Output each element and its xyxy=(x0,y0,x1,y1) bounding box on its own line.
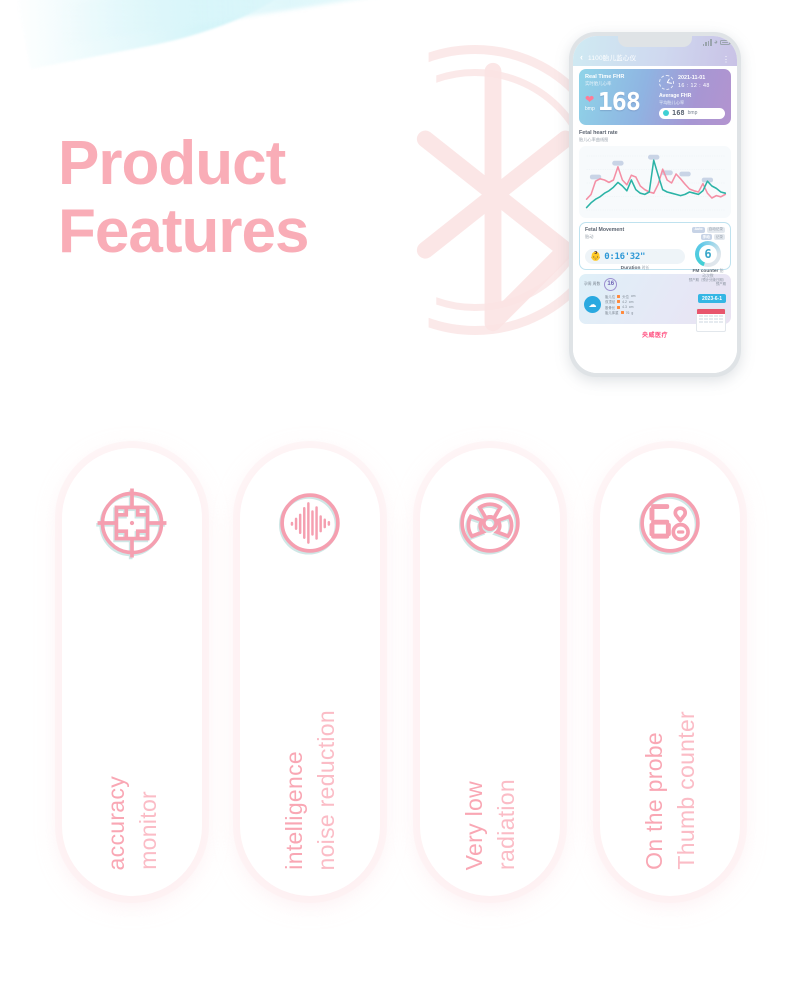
feature-label-secondary: noise reduction xyxy=(313,710,339,871)
back-button[interactable]: ‹ xyxy=(580,53,583,62)
feature-label-secondary: Thumb counter xyxy=(673,711,699,870)
chip-manual[interactable]: 手动 xyxy=(701,234,712,240)
pregnancy-info-card: 孕周 周数 16 ☁ 胎儿位头位cm双顶径4.2cm股骨长4.3cm胎儿体重76… xyxy=(579,274,731,324)
phone-mockup: ◕ ‹ 1100胎儿监心仪 ⋮ Real Time FHR 实时胎儿心率 ❤ xyxy=(569,32,741,377)
phone-notch xyxy=(618,36,692,47)
fhr-unit: bmp xyxy=(585,106,595,112)
feature-card-intelligence-noise-reduction[interactable]: intelligence noise reduction xyxy=(240,448,380,896)
week-badge: 16 xyxy=(604,278,617,291)
feature-card-accuracy-monitor[interactable]: accuracy monitor xyxy=(62,448,202,896)
overflow-menu-icon[interactable]: ⋮ xyxy=(722,57,730,62)
feature-label-secondary: monitor xyxy=(135,791,161,870)
cloud-icon: ☁ xyxy=(584,296,601,313)
product-features-page: Product Features ◕ ‹ 1100胎儿监心仪 ⋮ Real Ti… xyxy=(0,0,800,987)
feature-label-secondary: radiation xyxy=(493,779,519,870)
fhr-date: 2021-11-01 xyxy=(678,74,710,82)
fm-counter-ring: 6 xyxy=(695,241,721,267)
fhr-value: 168 xyxy=(598,89,640,114)
wifi-icon: ◕ xyxy=(714,39,718,46)
chip-auto-cn: 自动记录 xyxy=(707,227,725,233)
feature-card-thumb-counter[interactable]: On the probe Thumb counter xyxy=(600,448,740,896)
duration-value: 0:16'32" xyxy=(604,252,645,262)
measurement-rows: 胎儿位头位cm双顶径4.2cm股骨长4.3cm胎儿体重76g xyxy=(605,294,635,316)
duration-label-cn: 时长 xyxy=(642,266,650,270)
average-indicator-dot xyxy=(663,110,669,116)
app-body: Real Time FHR 实时胎儿心率 ❤ bmp 168 xyxy=(573,66,737,373)
fetal-movement-label-en: Fetal Movement xyxy=(585,227,624,234)
duration-pill: 👶 0:16'32" xyxy=(585,249,685,264)
bullet-icon xyxy=(617,300,620,303)
average-fhr-value: 168 xyxy=(672,109,685,117)
baby-icon: 👶 xyxy=(590,252,601,261)
average-fhr-label-en: Average FHR xyxy=(659,93,725,100)
average-fhr-label-cn: 平均胎儿心率 xyxy=(659,100,725,106)
fhr-time: 16 : 12 : 48 xyxy=(678,82,710,90)
fetal-movement-label-cn: 胎动 xyxy=(585,234,624,240)
real-time-fhr-card: Real Time FHR 实时胎儿心率 ❤ bmp 168 xyxy=(579,69,731,125)
signal-icon xyxy=(703,39,712,46)
due-date-sub-cn: 预产期 xyxy=(654,282,726,287)
average-fhr-pill: 168 bmp xyxy=(659,108,725,119)
list-item: 双顶径4.2cm xyxy=(605,299,635,304)
feature-label-primary: Very low xyxy=(461,781,487,870)
feature-label-primary: On the probe xyxy=(641,732,667,870)
fhr-label-en: Real Time FHR xyxy=(585,74,655,81)
heart-icon: ❤ xyxy=(585,95,595,106)
app-title: 1100胎儿监心仪 xyxy=(588,52,717,62)
battery-icon xyxy=(720,40,730,45)
page-title-line2: Features xyxy=(58,198,308,266)
bullet-icon xyxy=(621,311,624,314)
page-title: Product Features xyxy=(58,130,308,266)
fm-counter-value: 6 xyxy=(704,247,711,261)
crosshair-target-icon xyxy=(91,482,173,564)
duration-label-en: Duration xyxy=(621,266,641,271)
fetal-heart-rate-chart xyxy=(579,146,731,218)
list-item: 胎儿位头位cm xyxy=(605,294,635,299)
chart-title-cn: 胎儿心率曲线图 xyxy=(579,137,731,143)
bullet-icon xyxy=(617,295,620,298)
bullet-icon xyxy=(617,306,620,309)
fetal-movement-card: Fetal Movement 胎动 Auto 自动记录 手动 记录 xyxy=(579,222,731,270)
page-title-line1: Product xyxy=(58,130,308,198)
sound-wave-icon xyxy=(269,482,351,564)
week-label-cn: 孕周 周数 xyxy=(584,282,600,287)
chip-auto[interactable]: Auto xyxy=(692,227,704,233)
due-date-value: 2023-6-1 xyxy=(698,294,726,303)
clock-icon xyxy=(659,75,674,90)
list-item: 股骨长4.3cm xyxy=(605,305,635,310)
list-item: 胎儿体重76g xyxy=(605,310,635,315)
feature-card-very-low-radiation[interactable]: Very low radiation xyxy=(420,448,560,896)
feature-label-primary: accuracy xyxy=(103,776,129,870)
digital-counter-heart-icon xyxy=(629,482,711,564)
average-fhr-unit: bmp xyxy=(688,110,698,116)
radiation-icon xyxy=(449,482,531,564)
calendar-icon xyxy=(696,308,726,332)
chart-title-en: Fetal heart rate xyxy=(579,130,731,137)
chip-manual-cn: 记录 xyxy=(714,234,725,240)
feature-cards: accuracy monitor xyxy=(0,448,800,918)
feature-label-primary: intelligence xyxy=(281,751,307,870)
